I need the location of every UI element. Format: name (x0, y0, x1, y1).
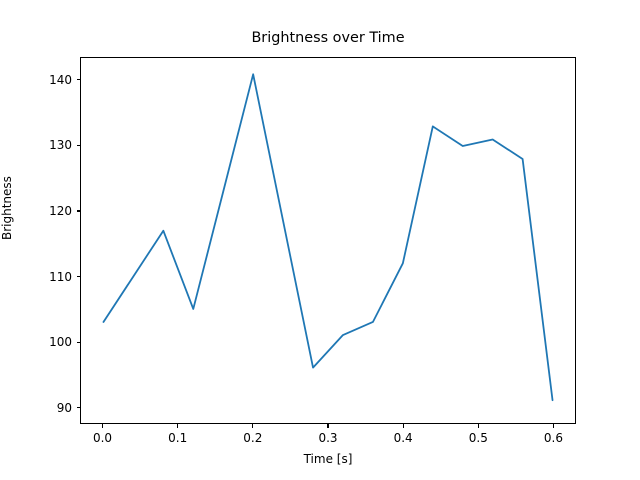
line-series-svg (81, 58, 575, 423)
y-tick-label: 120 (30, 204, 72, 218)
x-tick-label: 0.2 (243, 431, 262, 445)
x-tick-mark (478, 424, 479, 428)
x-tick-mark (252, 424, 253, 428)
x-tick-mark (177, 424, 178, 428)
x-tick-label: 0.4 (394, 431, 413, 445)
chart-figure: Brightness over Time Brightness Time [s]… (0, 0, 640, 480)
brightness-line-series (103, 74, 552, 400)
y-axis-label: Brightness (0, 176, 14, 240)
x-tick-label: 0.5 (469, 431, 488, 445)
x-tick-label: 0.0 (93, 431, 112, 445)
y-tick-label: 110 (30, 270, 72, 284)
x-tick-label: 0.6 (544, 431, 563, 445)
chart-title: Brightness over Time (80, 30, 576, 47)
x-tick-label: 0.3 (318, 431, 337, 445)
y-tick-label: 100 (30, 335, 72, 349)
x-tick-label: 0.1 (168, 431, 187, 445)
y-tick-label: 90 (30, 401, 72, 415)
y-tick-label: 130 (30, 138, 72, 152)
x-axis-label: Time [s] (80, 452, 576, 466)
x-tick-mark (403, 424, 404, 428)
x-tick-mark (553, 424, 554, 428)
plot-area (80, 57, 576, 424)
y-tick-label: 140 (30, 73, 72, 87)
x-tick-mark (327, 424, 328, 428)
x-tick-mark (102, 424, 103, 428)
